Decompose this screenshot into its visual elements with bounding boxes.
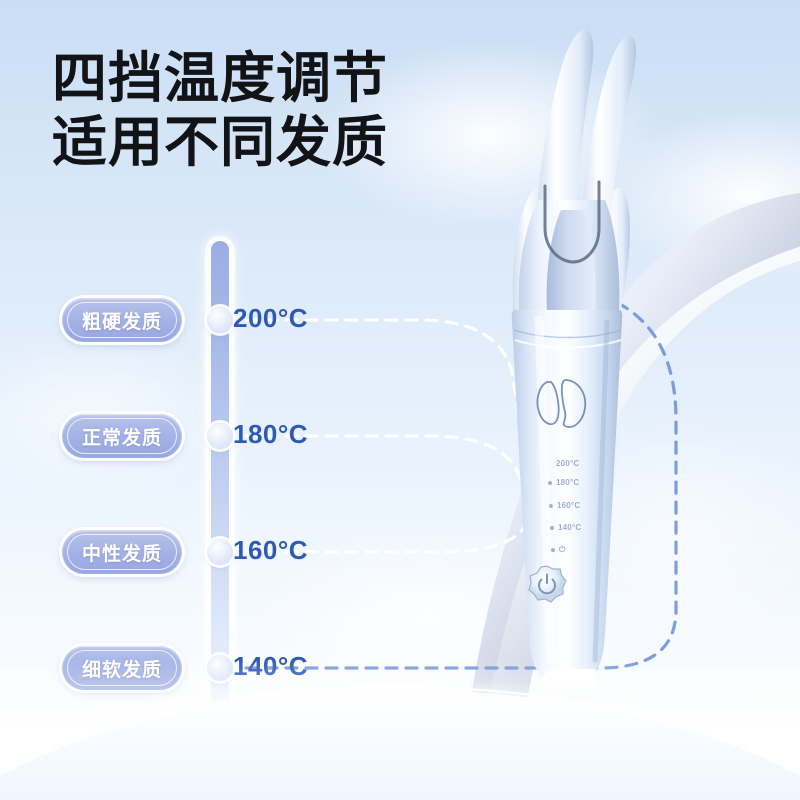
hair-type-badge-2[interactable]: 中性发质 [62, 530, 182, 574]
setting-row: 中性发质 160°C [0, 524, 800, 580]
temperature-label-2: 160°C [233, 535, 308, 566]
panel-readout-180: 180°C [556, 478, 579, 487]
panel-indicator-dot [549, 504, 553, 508]
hair-type-badge-1[interactable]: 正常发质 [62, 414, 182, 458]
setting-row: 正常发质 180°C [0, 408, 800, 464]
temperature-label-1: 180°C [233, 419, 308, 450]
panel-indicator-dot [548, 481, 552, 485]
slider-knob-2[interactable] [207, 539, 233, 565]
temperature-label-0: 200°C [233, 303, 308, 334]
slider-knob-1[interactable] [207, 423, 233, 449]
slider-knob-0[interactable] [207, 307, 233, 333]
hair-type-label: 粗硬发质 [82, 307, 162, 334]
hair-type-label: 正常发质 [82, 423, 162, 450]
product-marketing-image: 四挡温度调节 适用不同发质 [0, 0, 800, 800]
headline: 四挡温度调节 适用不同发质 [52, 46, 388, 175]
hair-type-badge-0[interactable]: 粗硬发质 [62, 298, 182, 342]
setting-row: 粗硬发质 200°C [0, 292, 800, 348]
panel-readout-160: 160°C [557, 501, 580, 510]
headline-line-1: 四挡温度调节 [52, 46, 388, 110]
hair-type-label: 中性发质 [82, 539, 162, 566]
headline-line-2: 适用不同发质 [52, 110, 388, 174]
